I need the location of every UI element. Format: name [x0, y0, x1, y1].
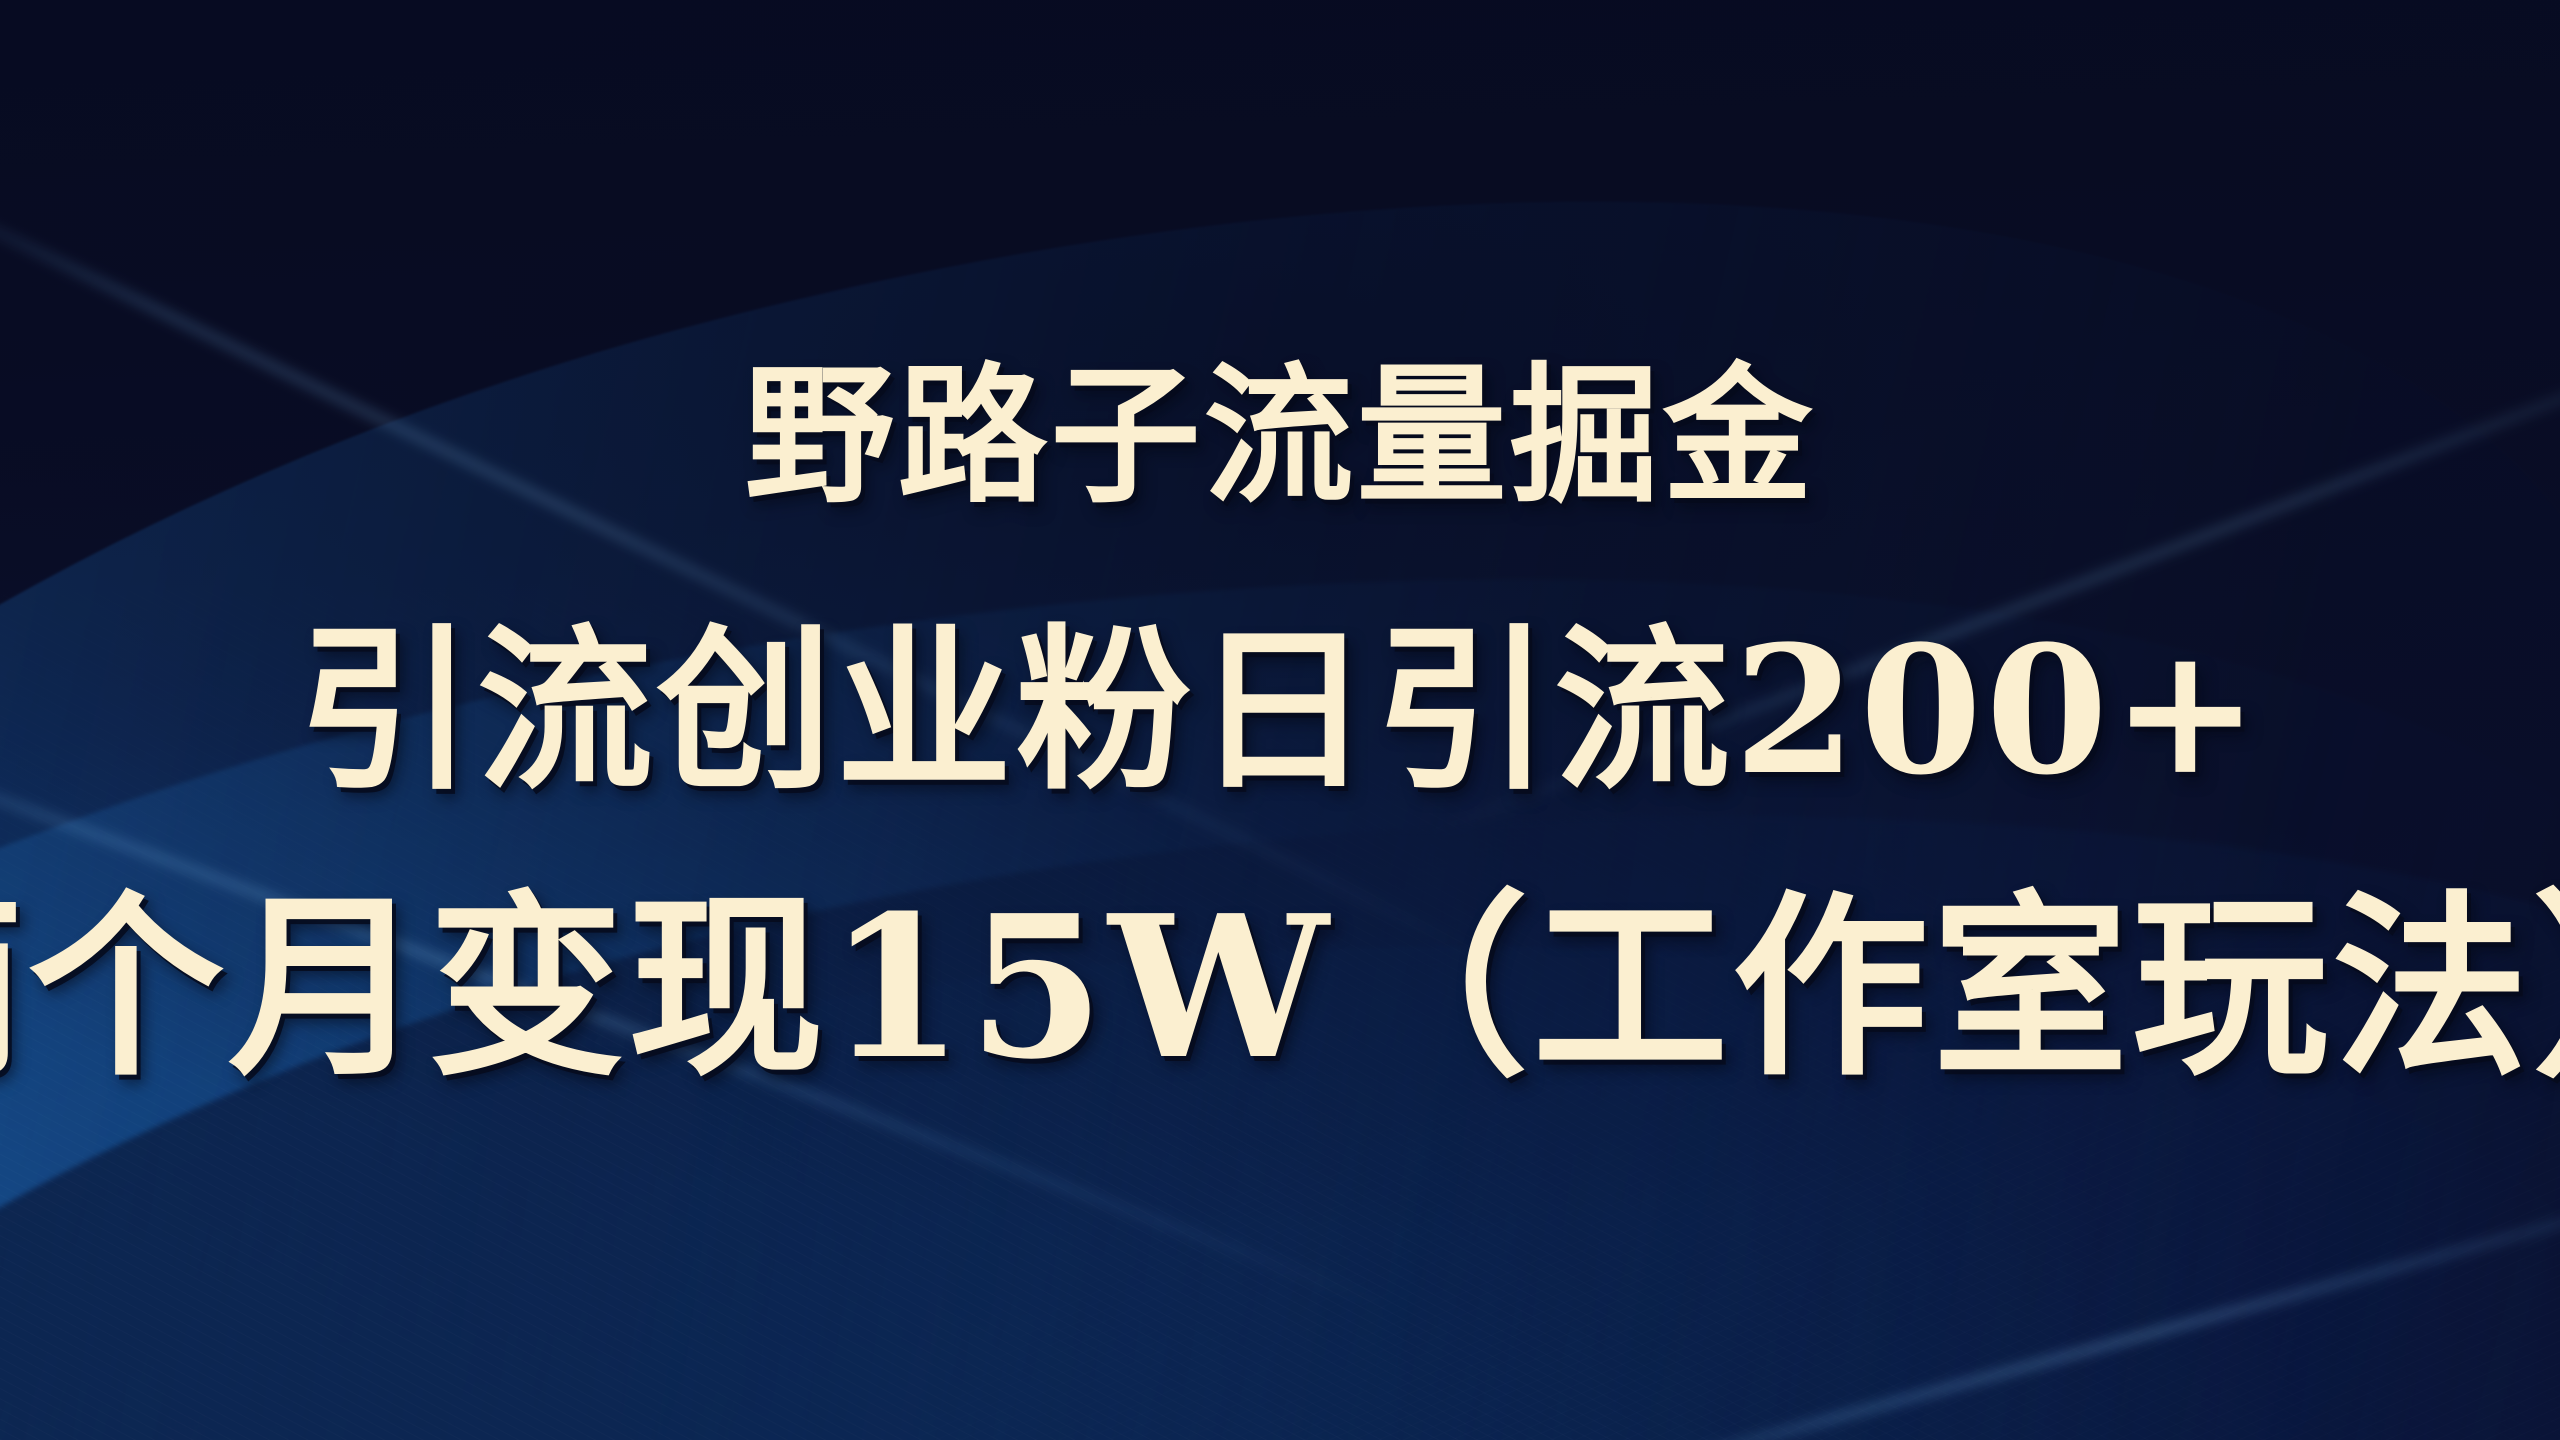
headline-line-3: 两个月变现15W（工作室玩法）	[0, 879, 2560, 1099]
headline-line-1: 野路子流量掘金	[744, 352, 1815, 520]
poster-canvas: 野路子流量掘金 引流创业粉日引流200+ 两个月变现15W（工作室玩法）	[0, 0, 2560, 1440]
headline-block: 野路子流量掘金 引流创业粉日引流200+ 两个月变现15W（工作室玩法）	[0, 0, 2560, 1440]
headline-line-2: 引流创业粉日引流200+	[297, 612, 2262, 809]
